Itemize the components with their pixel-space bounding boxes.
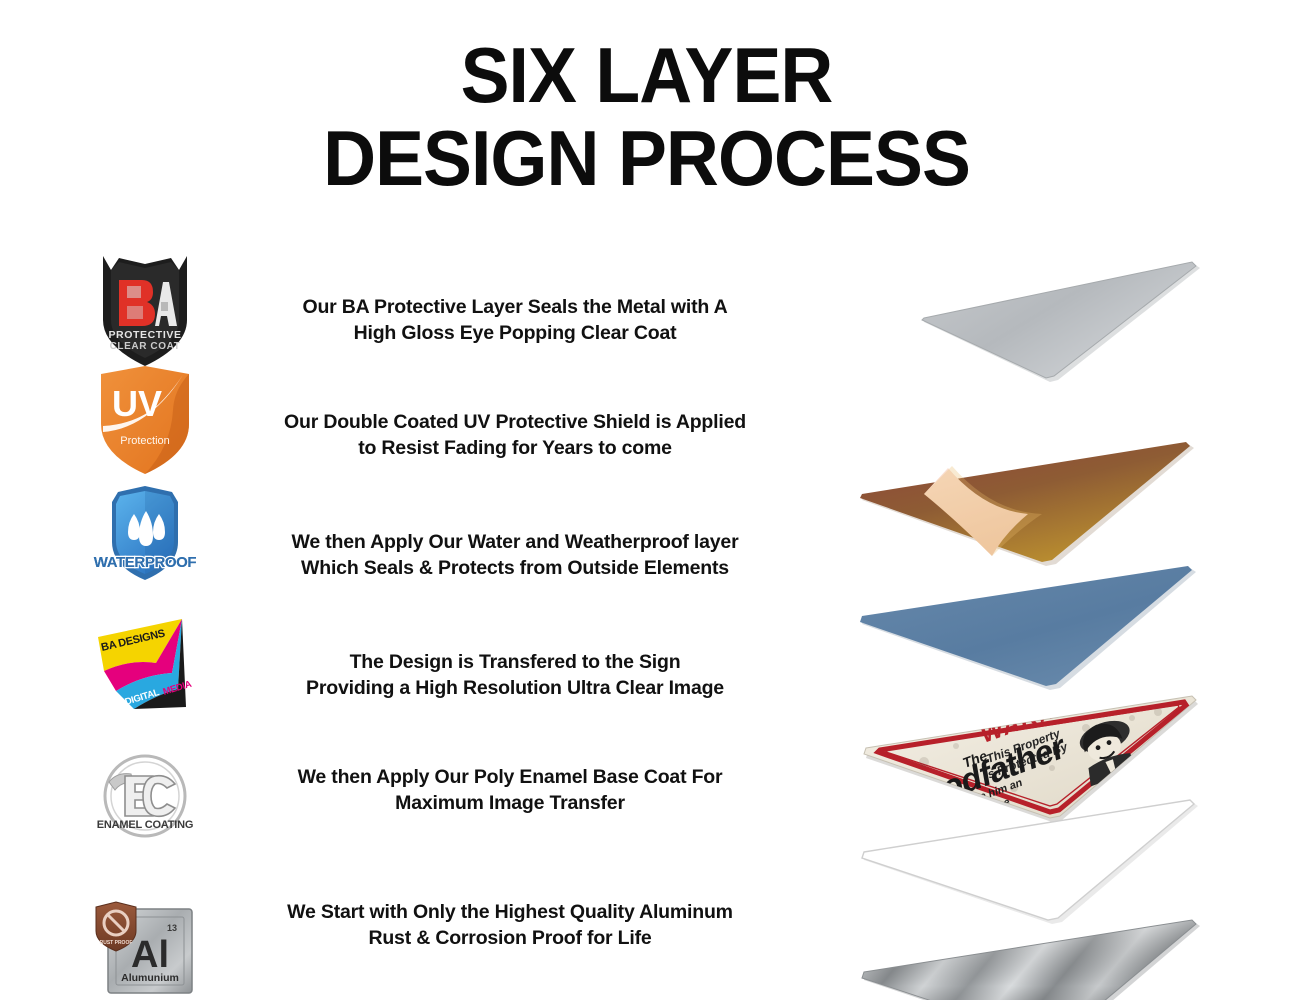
aluminum-layer bbox=[828, 822, 1248, 1000]
caption-line: We then Apply Our Water and Weatherproof… bbox=[292, 529, 739, 555]
exploded-layer-stack-diagram: WARNING This Property is Protected By Th… bbox=[828, 252, 1248, 982]
waterproof-shield-icon: WATERPROOF WATERPROOF bbox=[82, 477, 207, 597]
title-line-2: DESIGN PROCESS bbox=[39, 121, 1254, 196]
caption-line: to Resist Fading for Years to come bbox=[358, 435, 672, 461]
title-line-1: SIX LAYER bbox=[39, 38, 1254, 113]
row-aluminum: Al 13 Alumunium RUST PROOF We Start with… bbox=[0, 865, 820, 985]
enamel-coating-icon: ENAMEL COATING bbox=[82, 738, 207, 858]
uv-protection-shield-icon: UV Protection bbox=[82, 361, 207, 481]
caption-line: We Start with Only the Highest Quality A… bbox=[287, 899, 733, 925]
svg-text:13: 13 bbox=[166, 923, 176, 933]
svg-text:Alumunium: Alumunium bbox=[121, 972, 179, 984]
caption-waterproof: We then Apply Our Water and Weatherproof… bbox=[215, 495, 815, 615]
aluminum-element-icon: Al 13 Alumunium RUST PROOF bbox=[82, 889, 207, 1000]
caption-design-transfer: The Design is Transfered to the Sign Pro… bbox=[235, 615, 795, 735]
svg-text:Protection: Protection bbox=[120, 435, 170, 447]
svg-text:UV: UV bbox=[111, 383, 161, 424]
ba-protective-clear-coat-shield-icon: PROTECTIVE CLEAR COAT bbox=[82, 250, 207, 370]
row-enamel-coating: ENAMEL COATING We then Apply Our Poly En… bbox=[0, 730, 820, 850]
row-waterproof: WATERPROOF WATERPROOF We then Apply Our … bbox=[0, 495, 820, 615]
svg-text:CLEAR COAT: CLEAR COAT bbox=[109, 341, 180, 352]
caption-line: The Design is Transfered to the Sign bbox=[350, 649, 681, 675]
caption-line: Which Seals & Protects from Outside Elem… bbox=[301, 555, 729, 581]
svg-text:Al: Al bbox=[131, 934, 169, 976]
caption-line: Our Double Coated UV Protective Shield i… bbox=[284, 409, 746, 435]
caption-enamel-coating: We then Apply Our Poly Enamel Base Coat … bbox=[225, 730, 795, 850]
svg-text:WATERPROOF: WATERPROOF bbox=[93, 554, 196, 571]
caption-clear-coat: Our BA Protective Layer Seals the Metal … bbox=[215, 260, 815, 380]
caption-aluminum: We Start with Only the Highest Quality A… bbox=[215, 865, 805, 985]
page-title: SIX LAYER DESIGN PROCESS bbox=[0, 38, 1293, 196]
caption-line: High Gloss Eye Popping Clear Coat bbox=[354, 320, 677, 346]
row-design-transfer: BA DESIGNS DIGITAL MEDIA The Design is T… bbox=[0, 615, 820, 735]
caption-uv-protection: Our Double Coated UV Protective Shield i… bbox=[215, 375, 815, 495]
caption-line: Rust & Corrosion Proof for Life bbox=[368, 925, 651, 951]
cmyk-digital-media-icon: BA DESIGNS DIGITAL MEDIA bbox=[82, 607, 207, 727]
caption-line: Maximum Image Transfer bbox=[395, 790, 625, 816]
caption-line: Providing a High Resolution Ultra Clear … bbox=[306, 675, 724, 701]
six-layer-design-process-infographic: SIX LAYER DESIGN PROCESS PROTECTIVE CLEA… bbox=[0, 0, 1293, 1000]
caption-line: We then Apply Our Poly Enamel Base Coat … bbox=[298, 764, 723, 790]
caption-line: Our BA Protective Layer Seals the Metal … bbox=[303, 294, 728, 320]
svg-text:ENAMEL COATING: ENAMEL COATING bbox=[96, 819, 192, 831]
svg-text:PROTECTIVE: PROTECTIVE bbox=[108, 329, 181, 341]
svg-text:RUST PROOF: RUST PROOF bbox=[99, 940, 132, 946]
